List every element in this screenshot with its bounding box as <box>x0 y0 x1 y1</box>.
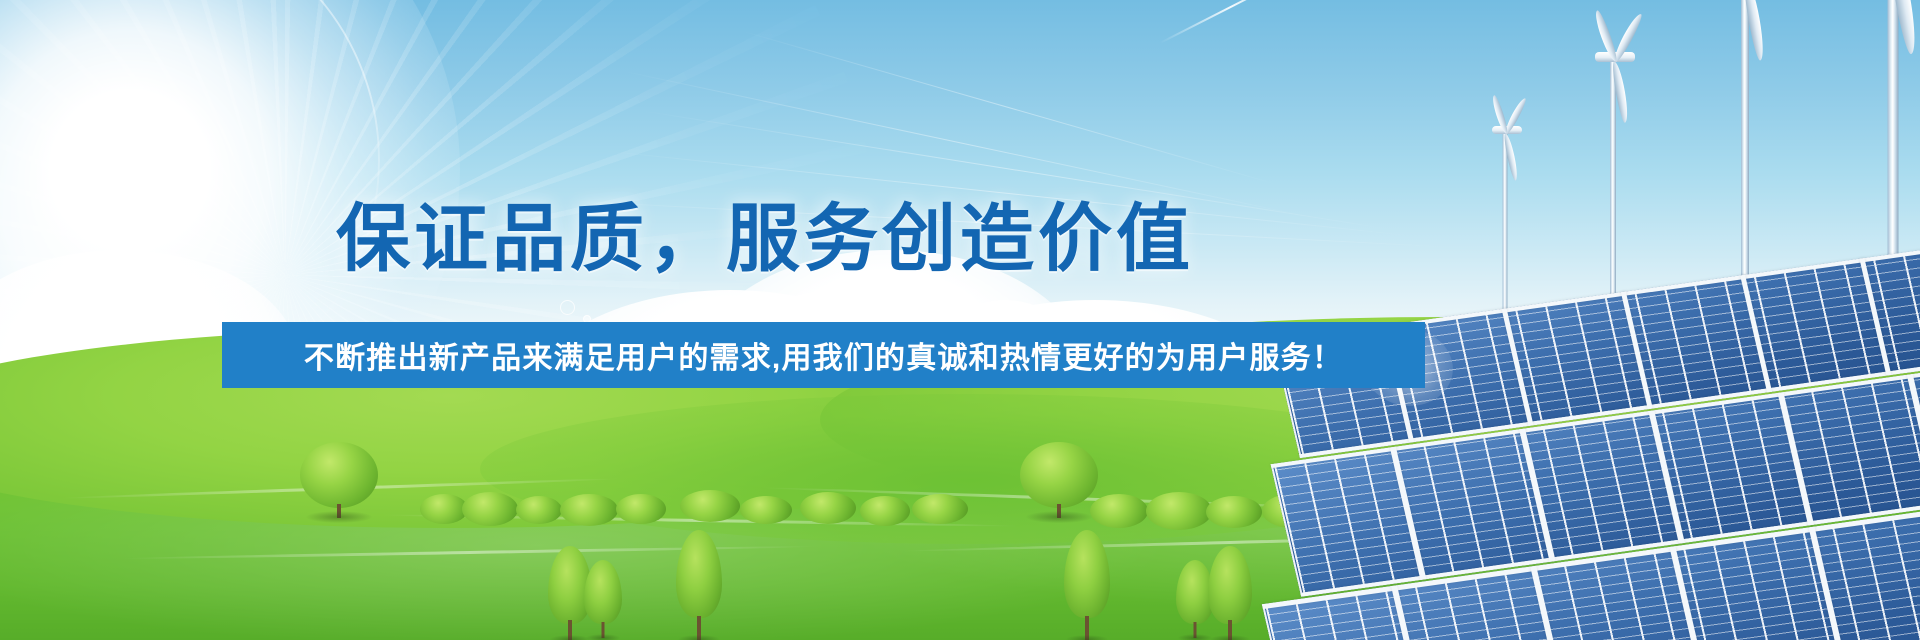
subtitle-bar: 不断推出新产品来满足用户的需求,用我们的真诚和热情更好的为用户服务！ <box>222 322 1425 388</box>
lens-flare-dot-icon <box>560 300 575 315</box>
tree-icon <box>300 442 378 518</box>
page-title: 保证品质，服务创造价值 <box>0 196 1530 282</box>
subtitle-text: 不断推出新产品来满足用户的需求,用我们的真诚和热情更好的为用户服务！ <box>304 333 1343 377</box>
tree-icon <box>1020 442 1098 518</box>
contrail-icon <box>1160 0 1303 44</box>
hero-banner: 保证品质，服务创造价值 不断推出新产品来满足用户的需求,用我们的真诚和热情更好的… <box>0 0 1920 640</box>
